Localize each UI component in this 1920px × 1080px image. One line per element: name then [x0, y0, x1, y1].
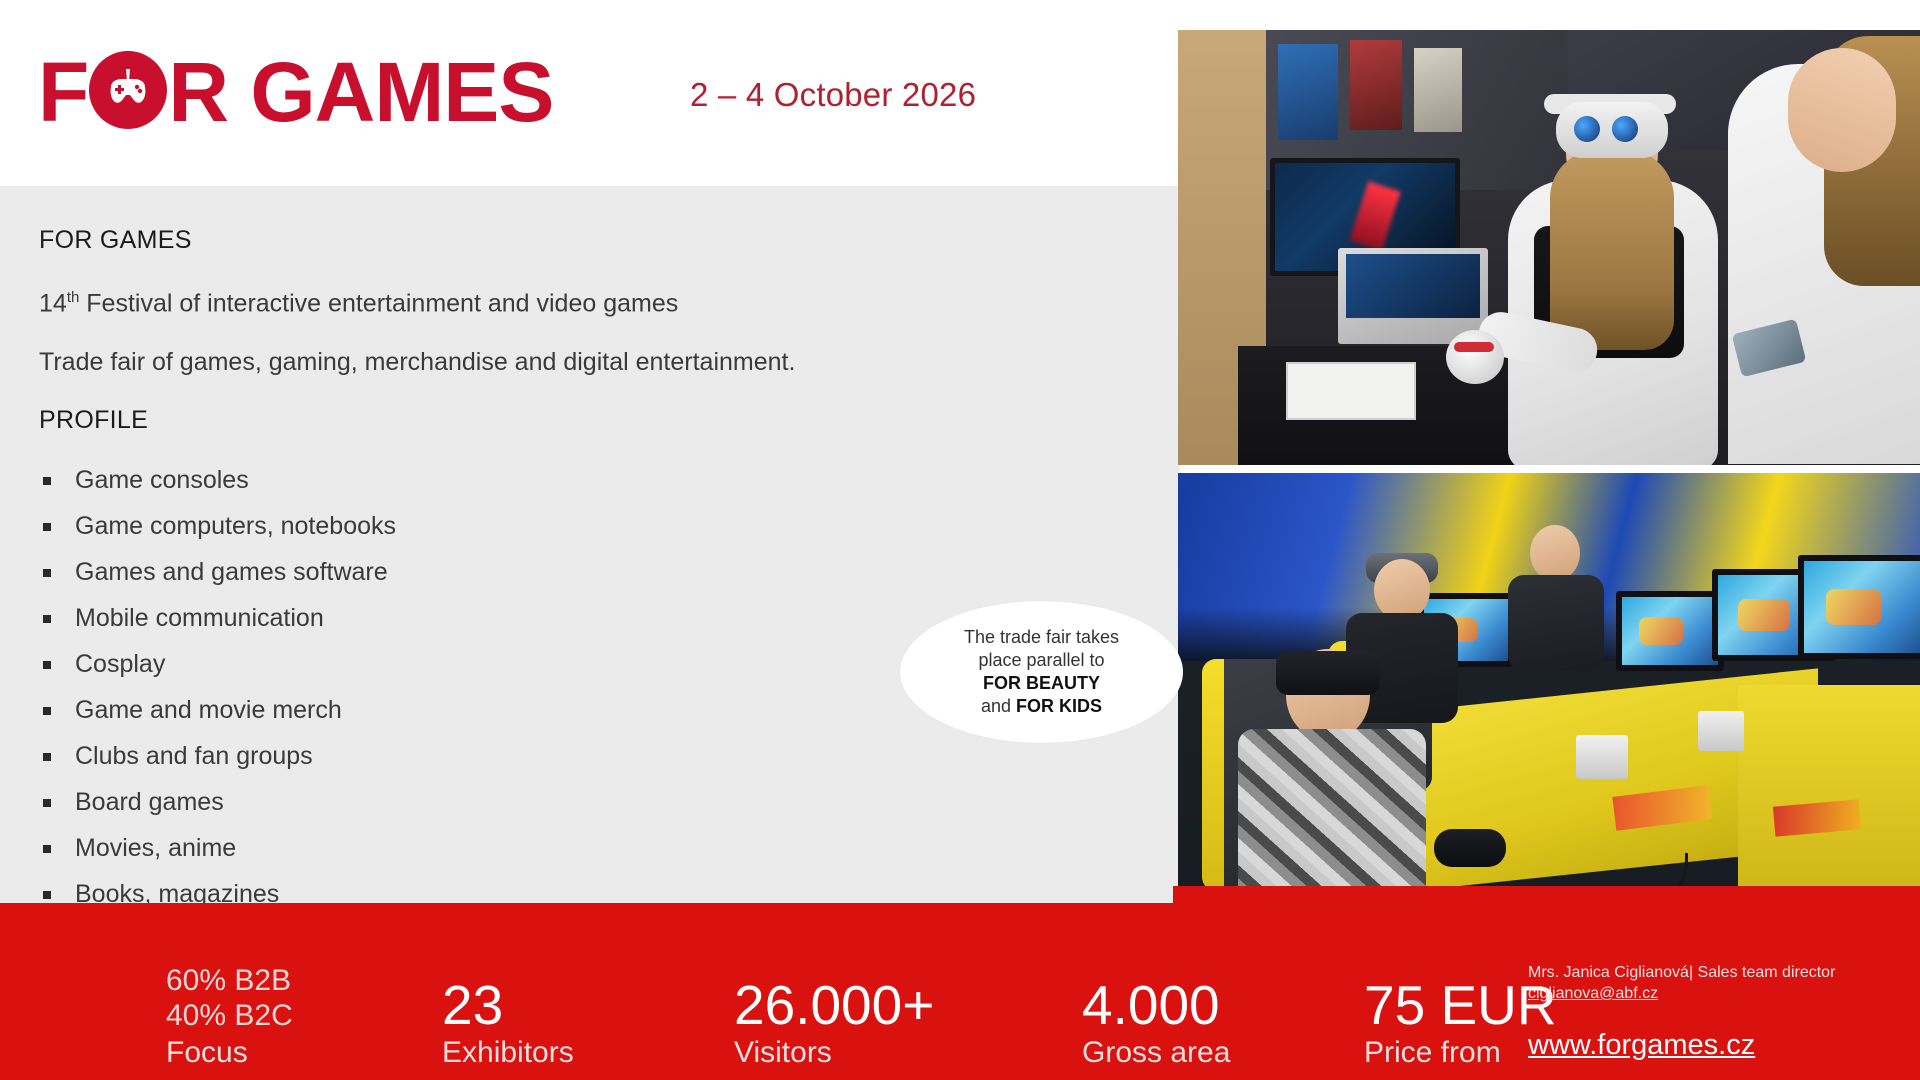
parallel-fairs-callout: The trade fair takes place parallel to F… — [900, 601, 1183, 743]
bullet-square-icon — [43, 477, 51, 485]
list-item: Mobile communication — [39, 595, 1039, 641]
stat-gross-area-label: Gross area — [1082, 1033, 1304, 1073]
bullet-square-icon — [43, 569, 51, 577]
list-item-label: Clubs and fan groups — [75, 742, 313, 770]
photo-child-head — [1530, 525, 1580, 581]
footer-notch — [1173, 886, 1920, 903]
photo-screen-2 — [1798, 555, 1920, 659]
stat-visitors-label: Visitors — [734, 1033, 1022, 1073]
list-item: Cosplay — [39, 641, 1039, 687]
list-item: Game and movie merch — [39, 687, 1039, 733]
description-paragraph: Trade fair of games, gaming, merchandise… — [39, 347, 1039, 377]
bullet-square-icon — [43, 615, 51, 623]
list-item: Game consoles — [39, 457, 1039, 503]
list-item: Game computers, notebooks — [39, 503, 1039, 549]
intro-number: 14 — [39, 289, 67, 317]
event-date: 2 – 4 October 2026 — [690, 76, 1150, 114]
callout-line-2: place parallel to — [978, 649, 1104, 672]
bullet-square-icon — [43, 845, 51, 853]
stat-exhibitors-value: 23 — [442, 977, 674, 1033]
brand-logo: F R GAMES — [38, 46, 553, 138]
photo-vr-lens-right — [1612, 116, 1638, 142]
photo-kids-gaming — [1178, 473, 1920, 903]
stat-focus-label: Focus — [166, 1033, 382, 1073]
photo-child-body — [1508, 575, 1604, 671]
stat-visitors: 26.000+ Visitors — [734, 977, 1022, 1073]
header: F R GAMES 2 – 4 October 2026 — [0, 0, 1173, 186]
list-item: Clubs and fan groups — [39, 733, 1039, 779]
photo-vr-lens-left — [1574, 116, 1600, 142]
list-item-label: Board games — [75, 788, 224, 816]
contact-email-link[interactable]: ciglianova@abf.cz — [1528, 983, 1658, 1004]
photo-screen-image — [1804, 561, 1920, 653]
logo-text-after: R GAMES — [168, 50, 553, 134]
profile-title: PROFILE — [39, 406, 1039, 435]
stat-focus: 60% B2B 40% B2C Focus — [166, 963, 382, 1073]
stat-focus-b2c: 40% B2C — [166, 998, 382, 1033]
photo-monitor-glow — [1349, 181, 1400, 250]
info-panel: FOR GAMES 14th Festival of interactive e… — [0, 186, 1180, 903]
photo-console-box-2 — [1698, 711, 1744, 751]
photo-laptop-screen — [1346, 254, 1480, 318]
website-link[interactable]: www.forgames.cz — [1528, 1028, 1755, 1062]
list-item: Movies, anime — [39, 825, 1039, 871]
list-item-label: Movies, anime — [75, 834, 236, 862]
list-item-label: Games and games software — [75, 558, 388, 586]
info-content: FOR GAMES 14th Festival of interactive e… — [39, 226, 1039, 917]
photo-poster-3 — [1414, 48, 1462, 132]
photo-child-head — [1374, 559, 1430, 621]
stat-gross-area-value: 4.000 — [1082, 977, 1304, 1033]
intro-paragraph: 14th Festival of interactive entertainme… — [39, 283, 1039, 318]
poster-root: F R GAMES 2 – 4 October 2026 FOR GAMES 1… — [0, 0, 1920, 1080]
callout-line-1: The trade fair takes — [964, 626, 1119, 649]
stat-visitors-value: 26.000+ — [734, 977, 1022, 1033]
list-item: Games and games software — [39, 549, 1039, 595]
photo-girl-hair — [1550, 150, 1674, 350]
callout-and: and — [981, 696, 1016, 716]
callout-fair-for-beauty: FOR BEAUTY — [983, 672, 1100, 695]
photo-child-body — [1238, 729, 1426, 903]
list-item-label: Game computers, notebooks — [75, 512, 396, 540]
photo-vr-girl: YOU ONLY LOLO LIVE ONCE — [1178, 30, 1920, 465]
vr-headset-icon — [1556, 102, 1668, 158]
list-item-label: Game and movie merch — [75, 696, 342, 724]
profile-list: Game consoles Game computers, notebooks … — [39, 457, 1039, 917]
photo-yellow-table-right — [1738, 685, 1920, 903]
footer-stats: 60% B2B 40% B2C Focus 23 Exhibitors 26.0… — [166, 963, 1624, 1073]
photo-console-box-1 — [1576, 735, 1628, 779]
bullet-square-icon — [43, 661, 51, 669]
callout-fair-for-kids: FOR KIDS — [1016, 696, 1102, 716]
list-item-label: Game consoles — [75, 466, 249, 494]
footer-contact: Mrs. Janica Ciglianová| Sales team direc… — [1528, 962, 1908, 1062]
bullet-square-icon — [43, 753, 51, 761]
photo-controller-ring — [1454, 342, 1494, 352]
bullet-square-icon — [43, 707, 51, 715]
photo-poster-1 — [1278, 44, 1338, 140]
photo-vr-controller — [1446, 330, 1504, 384]
list-item-label: Mobile communication — [75, 604, 324, 632]
photo-laptop — [1338, 248, 1488, 344]
photo-chair-accent — [1202, 659, 1224, 891]
bullet-square-icon — [43, 799, 51, 807]
photo-second-person-head — [1788, 48, 1896, 172]
contact-name: Mrs. Janica Ciglianová| Sales team direc… — [1528, 962, 1908, 983]
list-item-label: Cosplay — [75, 650, 165, 678]
gamepad-icon — [89, 51, 167, 129]
bullet-square-icon — [43, 891, 51, 899]
headphones-icon — [1276, 651, 1380, 695]
stat-exhibitors-label: Exhibitors — [442, 1033, 674, 1073]
intro-ordinal-suffix: th — [67, 289, 80, 306]
intro-rest: Festival of interactive entertainment an… — [79, 289, 678, 317]
callout-line-4: and FOR KIDS — [981, 695, 1102, 718]
list-item: Board games — [39, 779, 1039, 825]
stat-gross-area: 4.000 Gross area — [1082, 977, 1304, 1073]
section-title: FOR GAMES — [39, 226, 1039, 255]
photo-screen-image — [1622, 597, 1718, 665]
bullet-square-icon — [43, 523, 51, 531]
stat-focus-b2b: 60% B2B — [166, 963, 382, 998]
photo-screen-3 — [1616, 591, 1724, 671]
photo-poster-2 — [1350, 40, 1402, 130]
stat-exhibitors: 23 Exhibitors — [442, 977, 674, 1073]
photo-booth-sign — [1286, 362, 1416, 420]
logo-text-before: F — [38, 50, 88, 134]
